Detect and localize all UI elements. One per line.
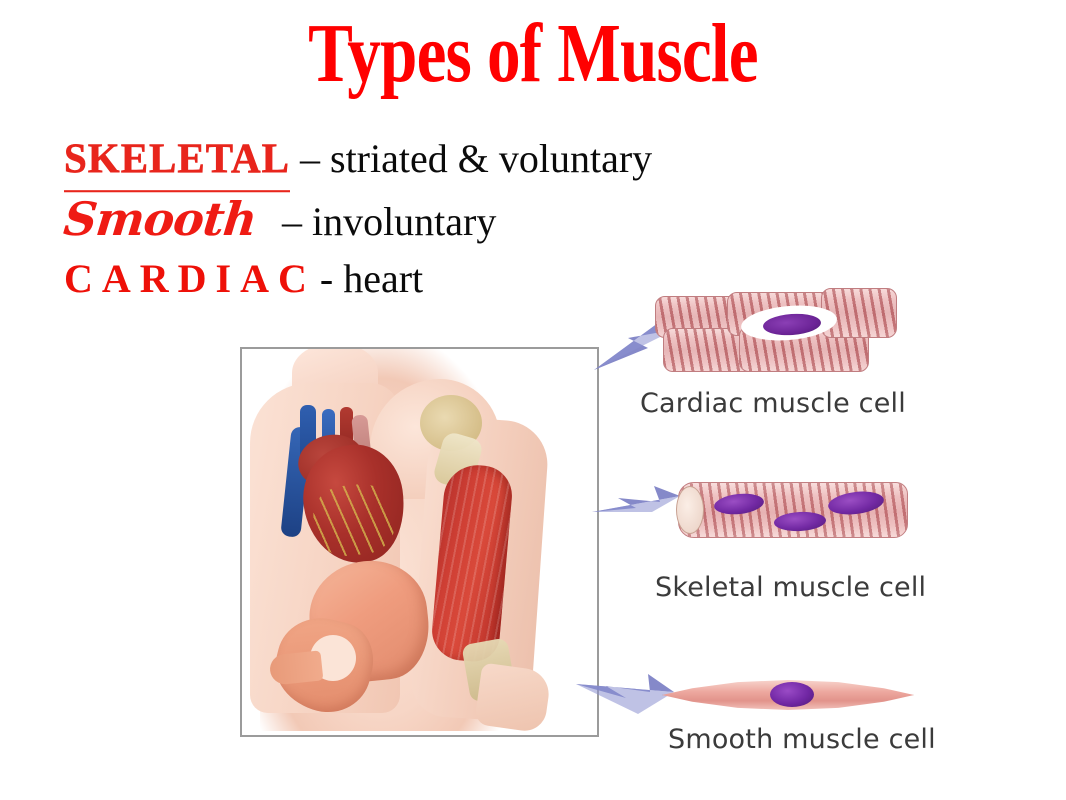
cardiac-muscle-cell-illustration xyxy=(655,278,900,374)
torso-anatomy-image xyxy=(240,347,599,737)
duodenum-shape xyxy=(269,650,324,685)
description-cardiac: - heart xyxy=(316,256,423,301)
cardiac-muscle-cell-label: Cardiac muscle cell xyxy=(640,388,906,419)
smooth-nucleus xyxy=(770,682,814,707)
description-skeletal: – striated & voluntary xyxy=(290,136,652,181)
slide-canvas: Types of Muscle SKELETAL– striated & vol… xyxy=(0,0,1066,800)
heart-organ xyxy=(284,405,420,575)
keyword-cardiac: CARDIAC xyxy=(64,250,316,308)
skeletal-fiber-end-cap xyxy=(676,486,704,534)
keyword-skeletal: SKELETAL xyxy=(64,127,290,193)
smooth-muscle-cell-label: Smooth muscle cell xyxy=(668,724,936,755)
torso-illustration xyxy=(242,349,597,735)
smooth-muscle-cell-illustration xyxy=(662,672,912,716)
list-item-smooth: Smooth– involuntary xyxy=(64,188,964,250)
list-item-skeletal: SKELETAL– striated & voluntary xyxy=(64,128,964,188)
stomach-organ xyxy=(270,561,438,721)
skeletal-muscle-cell-illustration xyxy=(678,478,906,544)
description-smooth: – involuntary xyxy=(256,199,496,244)
skeletal-muscle-cell-label: Skeletal muscle cell xyxy=(655,572,926,603)
page-title: Types of Muscle xyxy=(107,8,960,100)
keyword-smooth: Smooth xyxy=(61,188,259,250)
